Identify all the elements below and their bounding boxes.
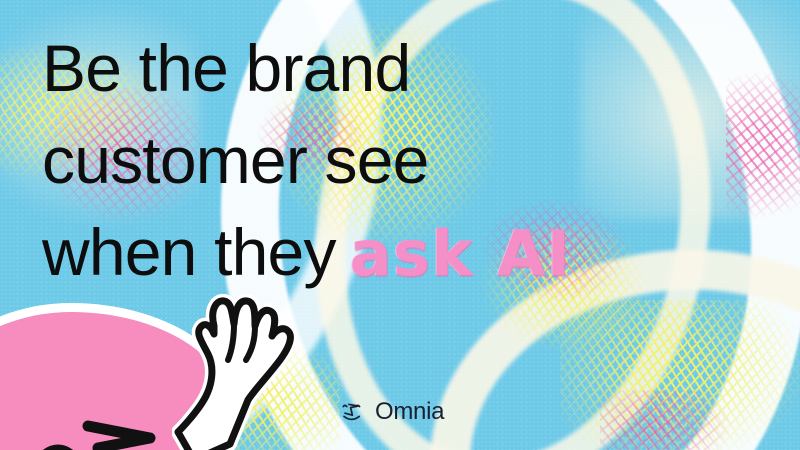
omnia-face-mark-icon: [340, 400, 366, 424]
omnia-logo[interactable]: Omnia: [340, 398, 444, 426]
logo-wordmark: Omnia: [375, 398, 444, 426]
logo-eye-left: [343, 405, 347, 406]
headline-block: Be the brand customer see when theyask A…: [42, 22, 762, 300]
ad-canvas: Be the brand customer see when theyask A…: [0, 0, 800, 450]
waving-hand-icon: [172, 292, 302, 450]
headline-accent-ask-ai: ask AI: [336, 217, 572, 290]
headline-line-1: Be the brand: [42, 22, 762, 114]
headline-line-2: customer see: [42, 114, 762, 206]
logo-smile: [344, 416, 359, 419]
headline-line-3-plain: when they: [42, 215, 336, 289]
headline-line-3: when theyask AI: [42, 206, 762, 300]
